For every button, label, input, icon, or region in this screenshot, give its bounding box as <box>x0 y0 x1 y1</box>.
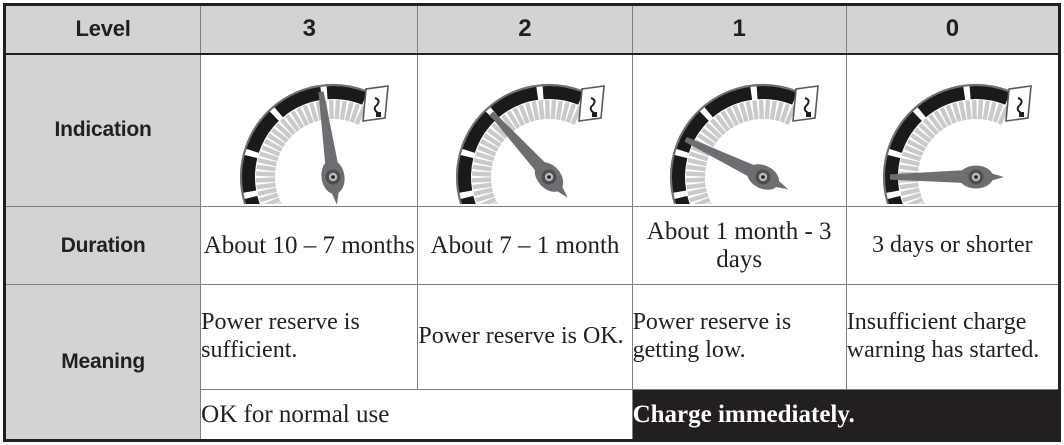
summary-ok-for-normal-use: OK for normal use <box>201 390 632 441</box>
duration-value-level-2: About 7 – 1 month <box>418 207 632 285</box>
gauge-cell-level-2 <box>418 54 632 207</box>
power-reserve-gauge-icon-level-0 <box>852 56 1052 204</box>
row-label-level: Level <box>5 5 201 54</box>
summary-charge-immediately: Charge immediately. <box>632 390 1059 441</box>
gauge-cell-level-3 <box>201 54 418 207</box>
column-header-level-0: 0 <box>846 5 1059 54</box>
gauge-cell-level-1 <box>632 54 846 207</box>
column-header-level-1: 1 <box>632 5 846 54</box>
table-row-meaning: Meaning Power reserve is sufficient. Pow… <box>5 285 1060 390</box>
power-reserve-gauge-icon-level-1 <box>639 56 839 204</box>
column-header-level-3: 3 <box>201 5 418 54</box>
duration-value-level-0: 3 days or shorter <box>846 207 1059 285</box>
gauge-cell-level-0 <box>846 54 1059 207</box>
power-reserve-gauge-icon-level-2 <box>425 56 625 204</box>
row-label-meaning: Meaning <box>5 285 201 441</box>
meaning-value-level-0: Insufficient charge warning has started. <box>846 285 1059 390</box>
meaning-value-level-2: Power reserve is OK. <box>418 285 632 390</box>
power-reserve-gauge-icon-level-3 <box>209 56 409 204</box>
row-label-duration: Duration <box>5 207 201 285</box>
duration-value-level-3: About 10 – 7 months <box>201 207 418 285</box>
duration-value-level-1: About 1 month - 3 days <box>632 207 846 285</box>
table-row-indication: Indication <box>5 54 1060 207</box>
power-reserve-table-root: Level 3 2 1 0 Indication <box>0 0 1064 445</box>
column-header-level-2: 2 <box>418 5 632 54</box>
row-label-indication: Indication <box>5 54 201 207</box>
power-reserve-table: Level 3 2 1 0 Indication <box>3 3 1061 442</box>
meaning-value-level-1: Power reserve is getting low. <box>632 285 846 390</box>
table-row-duration: Duration About 10 – 7 months About 7 – 1… <box>5 207 1060 285</box>
table-row-level: Level 3 2 1 0 <box>5 5 1060 54</box>
meaning-value-level-3: Power reserve is sufficient. <box>201 285 418 390</box>
